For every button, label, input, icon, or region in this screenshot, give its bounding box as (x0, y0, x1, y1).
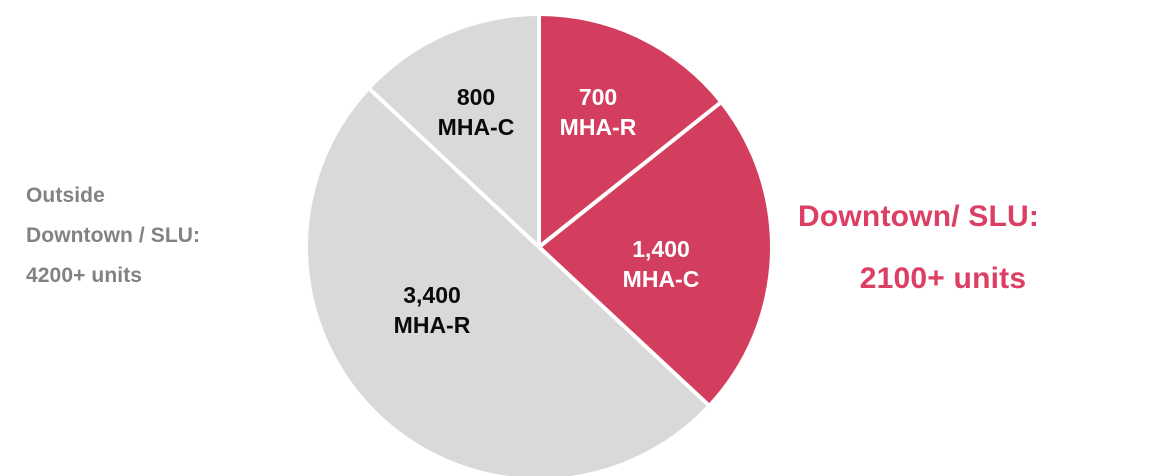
downtown-slu-annotation: Downtown/ SLU: 2100+ units (798, 186, 1158, 310)
outside-downtown-annotation: Outside Downtown / SLU: 4200+ units (26, 176, 326, 296)
outside-downtown-line-3: 4200+ units (26, 256, 326, 296)
pie-slice-name-downtown-mha-r: MHA-R (560, 114, 637, 140)
pie-slice-name-outside-mha-r: MHA-R (394, 312, 471, 338)
outside-downtown-line-2: Downtown / SLU: (26, 216, 326, 256)
outside-downtown-line-1: Outside (26, 176, 326, 216)
pie-slice-name-outside-mha-c: MHA-C (438, 114, 515, 140)
pie-slice-value-downtown-mha-r: 700 (579, 84, 617, 110)
pie-slice-value-outside-mha-r: 3,400 (403, 282, 461, 308)
pie-slice-name-downtown-mha-c: MHA-C (623, 266, 700, 292)
pie-chart-figure: 700MHA-R1,400MHA-C3,400MHA-R800MHA-C Out… (0, 0, 1168, 476)
downtown-slu-line-2: 2100+ units (798, 248, 1088, 310)
pie-slice-value-outside-mha-c: 800 (457, 84, 495, 110)
pie-slice-value-downtown-mha-c: 1,400 (632, 236, 690, 262)
downtown-slu-line-1: Downtown/ SLU: (798, 186, 1158, 248)
